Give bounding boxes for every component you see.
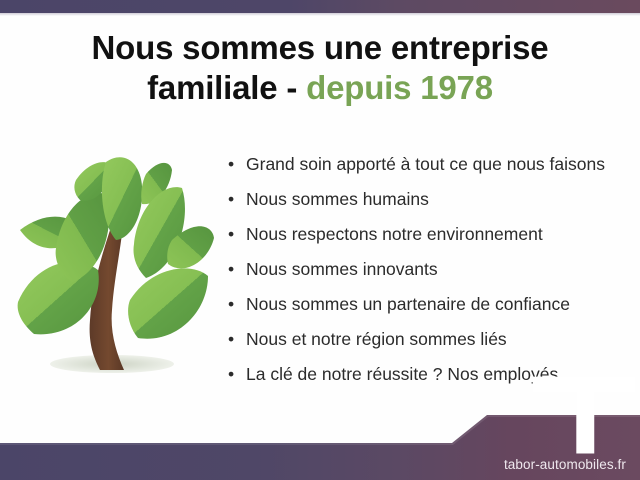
list-item-label: La clé de notre réussite ? Nos employés.: [246, 364, 563, 384]
tree-leaf: [128, 268, 208, 338]
list-item: •La clé de notre réussite ? Nos employés…: [228, 362, 628, 397]
slide-title-line2: familiale - depuis 1978: [0, 68, 640, 108]
bullet-marker: •: [228, 152, 234, 176]
list-item: •Nous sommes humains: [228, 187, 628, 222]
slide-canvas: Nous sommes une entreprise familiale - d…: [0, 0, 640, 480]
slide-title-line2-black: familiale -: [147, 69, 306, 106]
list-item: •Nous sommes un partenaire de confiance: [228, 292, 628, 327]
bullet-marker: •: [228, 362, 234, 386]
top-accent-bar: [0, 0, 640, 13]
top-accent-bar-shadow: [0, 13, 640, 16]
slide-title: Nous sommes une entreprise familiale - d…: [0, 28, 640, 109]
bullet-marker: •: [228, 187, 234, 211]
list-item: •Grand soin apporté à tout ce que nous f…: [228, 152, 628, 187]
footer-band-highlight: [0, 415, 640, 445]
slide-title-highlight: depuis 1978: [306, 69, 493, 106]
bullet-marker: •: [228, 222, 234, 246]
list-item: •Nous respectons notre environnement: [228, 222, 628, 257]
bullet-marker: •: [228, 327, 234, 351]
list-item-label: Nous sommes un partenaire de confiance: [246, 294, 570, 314]
bullet-marker: •: [228, 257, 234, 281]
list-item-label: Nous et notre région sommes liés: [246, 329, 507, 349]
footer-band-shape: [0, 415, 640, 480]
list-item-label: Nous sommes innovants: [246, 259, 438, 279]
brand-tagline: tabor-automobiles.fr: [428, 457, 626, 472]
list-item-label: Nous respectons notre environnement: [246, 224, 543, 244]
list-item: •Nous et notre région sommes liés: [228, 327, 628, 362]
list-item-label: Grand soin apporté à tout ce que nous fa…: [246, 154, 605, 174]
benefits-list: •Grand soin apporté à tout ce que nous f…: [228, 152, 628, 397]
bullet-marker: •: [228, 292, 234, 316]
slide-title-line1: Nous sommes une entreprise: [92, 29, 549, 66]
tree-illustration: [12, 152, 218, 386]
list-item-label: Nous sommes humains: [246, 189, 429, 209]
footer-band: tabor-automobiles.fr: [0, 398, 640, 480]
list-item: •Nous sommes innovants: [228, 257, 628, 292]
